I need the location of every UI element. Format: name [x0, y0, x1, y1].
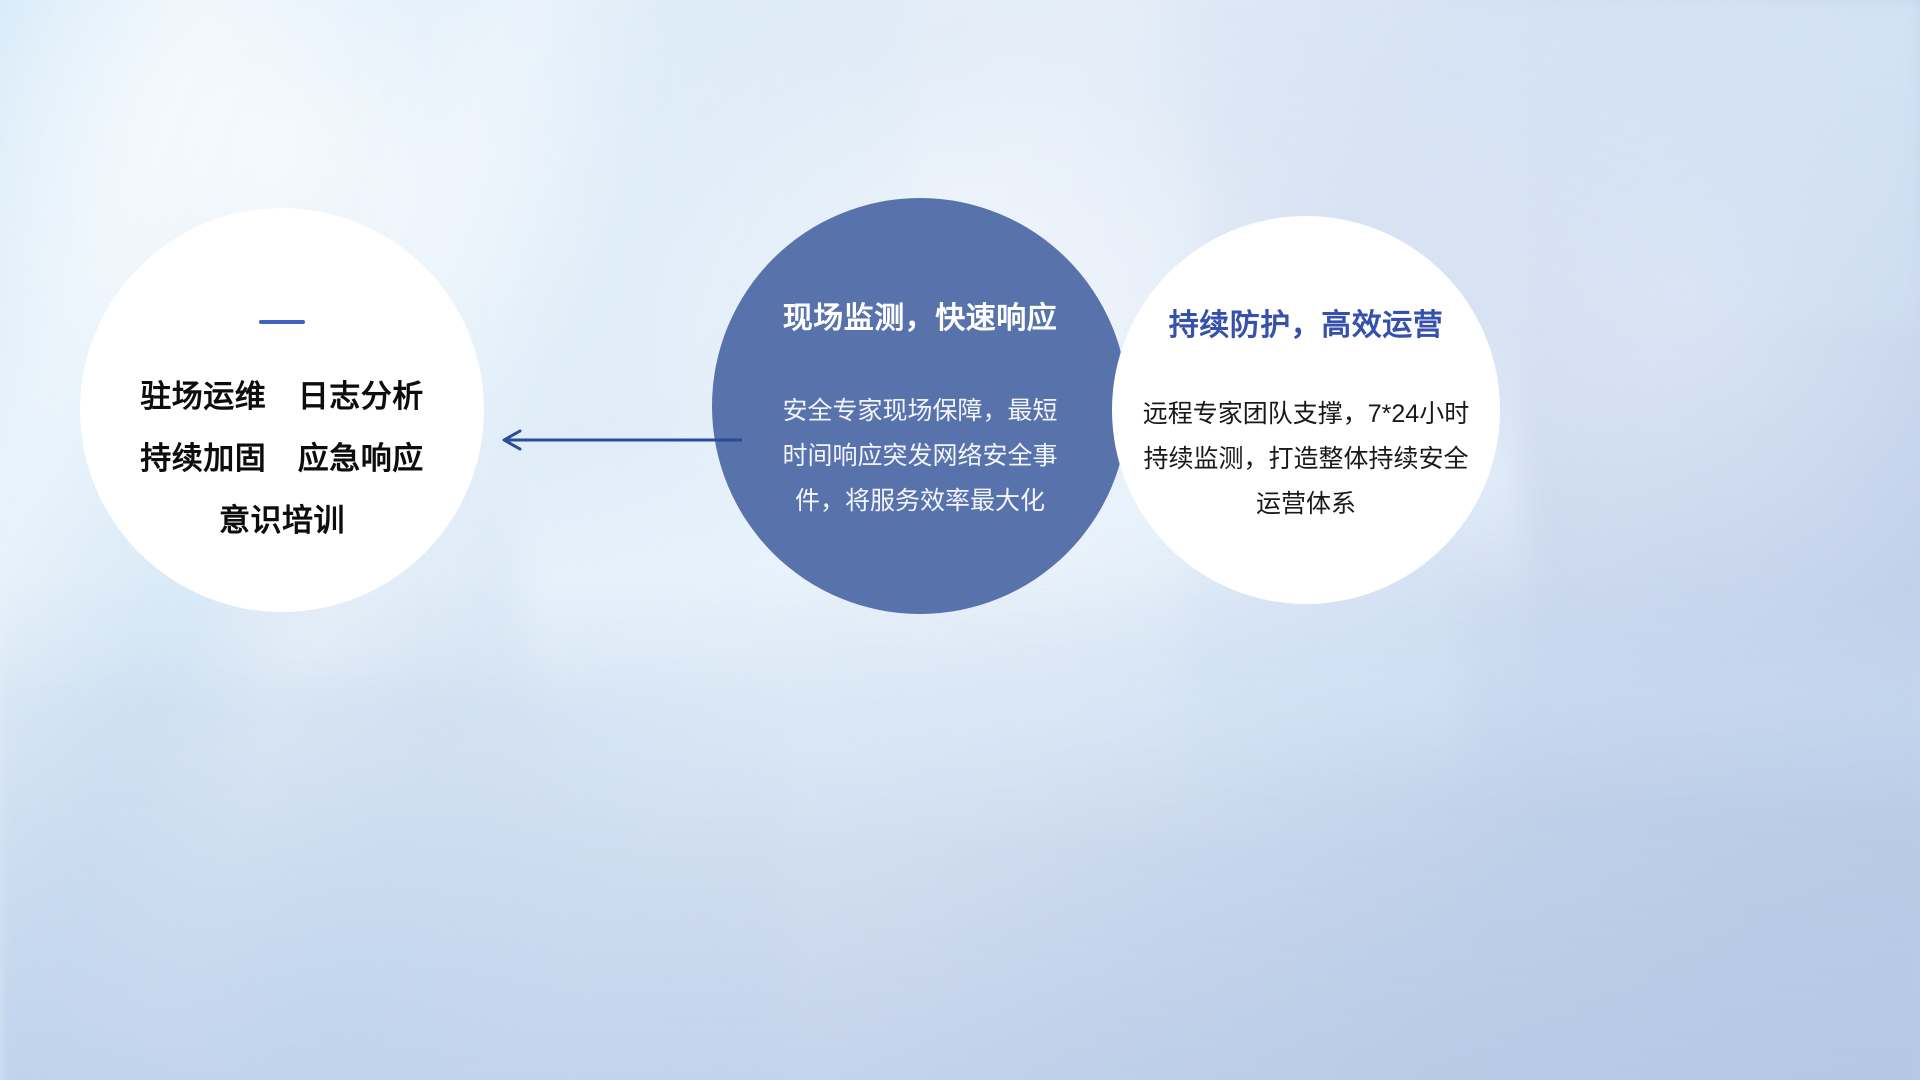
service-line-2: 持续加固 应急响应: [140, 428, 424, 490]
service-line-1: 驻场运维 日志分析: [140, 366, 424, 428]
background-haze-bottom: [0, 580, 1920, 1080]
accent-divider-icon: [259, 320, 305, 324]
card-onsite-monitoring-body: 安全专家现场保障，最短时间响应突发网络安全事件，将服务效率最大化: [782, 389, 1058, 524]
service-line-3: 意识培训: [140, 490, 424, 552]
card-service-capabilities-lines: 驻场运维 日志分析 持续加固 应急响应 意识培训: [140, 366, 424, 552]
card-continuous-protection-title: 持续防护，高效运营: [1169, 300, 1444, 344]
card-onsite-monitoring-title: 现场监测，快速响应: [783, 293, 1058, 337]
flow-arrow-left-icon: [492, 424, 742, 456]
card-onsite-monitoring: 现场监测，快速响应 安全专家现场保障，最短时间响应突发网络安全事件，将服务效率最…: [712, 198, 1128, 614]
card-service-capabilities: 驻场运维 日志分析 持续加固 应急响应 意识培训: [80, 208, 484, 612]
card-continuous-protection-body: 远程专家团队支撑，7*24小时持续监测，打造整体持续安全运营体系: [1132, 392, 1480, 527]
card-continuous-protection: 持续防护，高效运营 远程专家团队支撑，7*24小时持续监测，打造整体持续安全运营…: [1112, 216, 1500, 604]
